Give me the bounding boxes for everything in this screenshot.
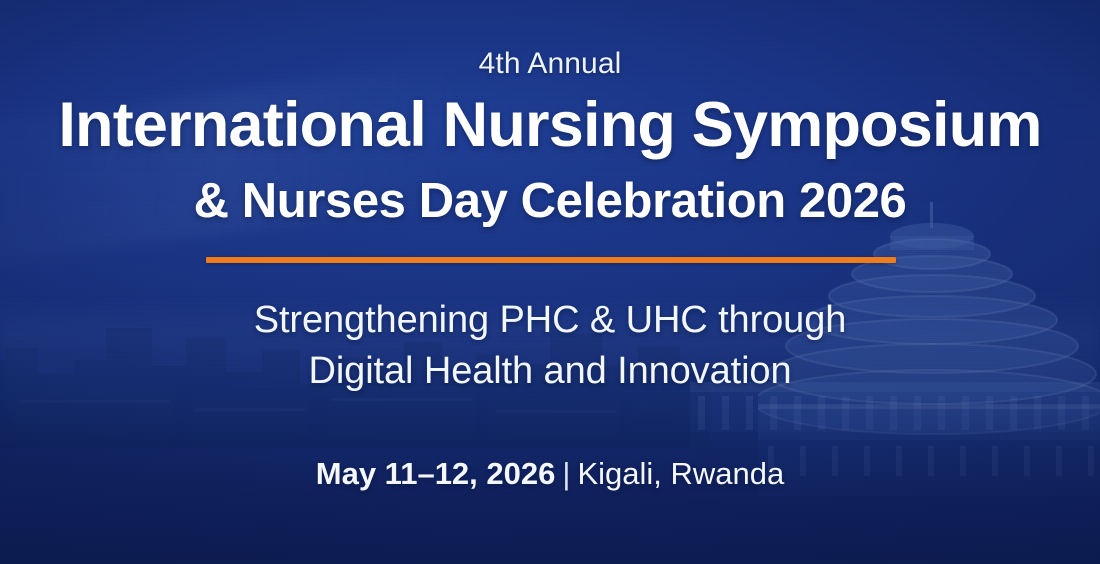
event-location: Kigali, Rwanda bbox=[577, 456, 784, 491]
event-theme: Strengthening PHC & UHC through Digital … bbox=[0, 295, 1100, 396]
event-date-location: May 11–12, 2026|Kigali, Rwanda bbox=[0, 455, 1100, 492]
event-title-secondary: & Nurses Day Celebration 2026 bbox=[0, 175, 1100, 228]
event-edition-label: 4th Annual bbox=[0, 47, 1100, 81]
event-banner: 4th Annual International Nursing Symposi… bbox=[0, 0, 1100, 564]
event-theme-line-2: Digital Health and Innovation bbox=[0, 346, 1100, 397]
event-date: May 11–12, 2026 bbox=[316, 456, 556, 491]
orange-divider-rule bbox=[206, 257, 896, 263]
event-title-primary: International Nursing Symposium bbox=[0, 92, 1100, 158]
banner-content: 4th Annual International Nursing Symposi… bbox=[0, 0, 1100, 564]
meta-separator: | bbox=[555, 456, 577, 491]
event-theme-line-1: Strengthening PHC & UHC through bbox=[0, 295, 1100, 346]
